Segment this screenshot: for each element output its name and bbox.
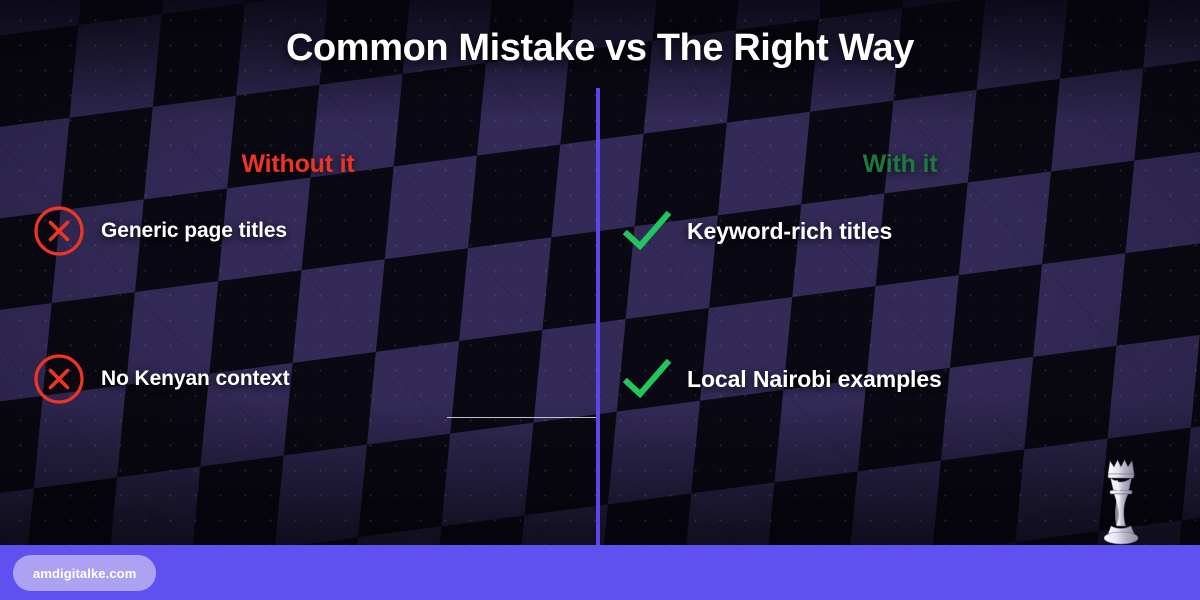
list-item-label: Generic page titles: [101, 219, 287, 243]
infographic-canvas: Common Mistake vs The Right Way Without …: [0, 0, 1200, 600]
check-icon: [621, 209, 673, 253]
circle-x-icon: [33, 205, 85, 257]
list-item: No Kenyan context: [0, 349, 596, 409]
list-item: Generic page titles: [0, 201, 596, 261]
list-item-label: No Kenyan context: [101, 367, 290, 391]
list-item-label: Keyword-rich titles: [687, 218, 892, 245]
column-without: Without it Generic page titles No Kenyan…: [0, 150, 596, 409]
footer-bar: amdigitalke.com: [0, 545, 1200, 600]
page-title: Common Mistake vs The Right Way: [0, 27, 1200, 70]
watermark-badge[interactable]: amdigitalke.com: [13, 555, 156, 591]
check-icon: [621, 357, 673, 401]
column-heading-without: Without it: [0, 150, 596, 179]
list-item: Local Nairobi examples: [600, 349, 1200, 409]
column-with: With it Keyword-rich titles Local Nairob…: [600, 150, 1200, 409]
without-item-list: Generic page titles No Kenyan context: [0, 201, 596, 409]
list-item: Keyword-rich titles: [600, 201, 1200, 261]
with-item-list: Keyword-rich titles Local Nairobi exampl…: [600, 201, 1200, 409]
column-heading-with: With it: [600, 150, 1200, 179]
circle-x-icon: [33, 353, 85, 405]
chess-queen-icon: [1093, 452, 1149, 546]
list-item-label: Local Nairobi examples: [687, 366, 942, 393]
